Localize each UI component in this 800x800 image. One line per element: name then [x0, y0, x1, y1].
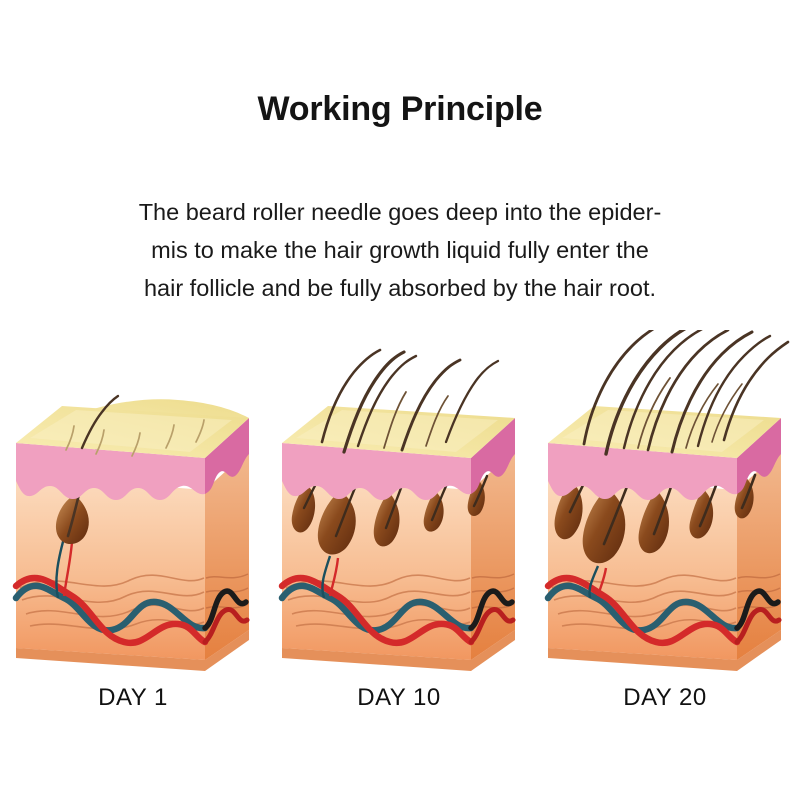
skin-block-diagram-day-1	[0, 330, 266, 730]
stage-day-10: DAY 10	[266, 330, 532, 730]
stage-day-20: DAY 20	[532, 330, 798, 730]
skin-block-diagram-day-20	[532, 330, 798, 730]
stage-label-day-1: DAY 1	[0, 684, 266, 712]
stage-label-day-20: DAY 20	[532, 684, 798, 712]
description-line-2: mis to make the hair growth liquid fully…	[100, 231, 700, 269]
description-line-3: hair follicle and be fully absorbed by t…	[100, 269, 700, 307]
stage-illustration-row: DAY 1	[0, 330, 800, 730]
stage-day-1: DAY 1	[0, 330, 266, 730]
skin-block-diagram-day-10	[266, 330, 532, 730]
page-title: Working Principle	[0, 90, 800, 129]
description-line-1: The beard roller needle goes deep into t…	[100, 193, 700, 231]
infographic-page: Working Principle The beard roller needl…	[0, 0, 800, 800]
stage-label-day-10: DAY 10	[266, 684, 532, 712]
description-text: The beard roller needle goes deep into t…	[100, 193, 700, 307]
